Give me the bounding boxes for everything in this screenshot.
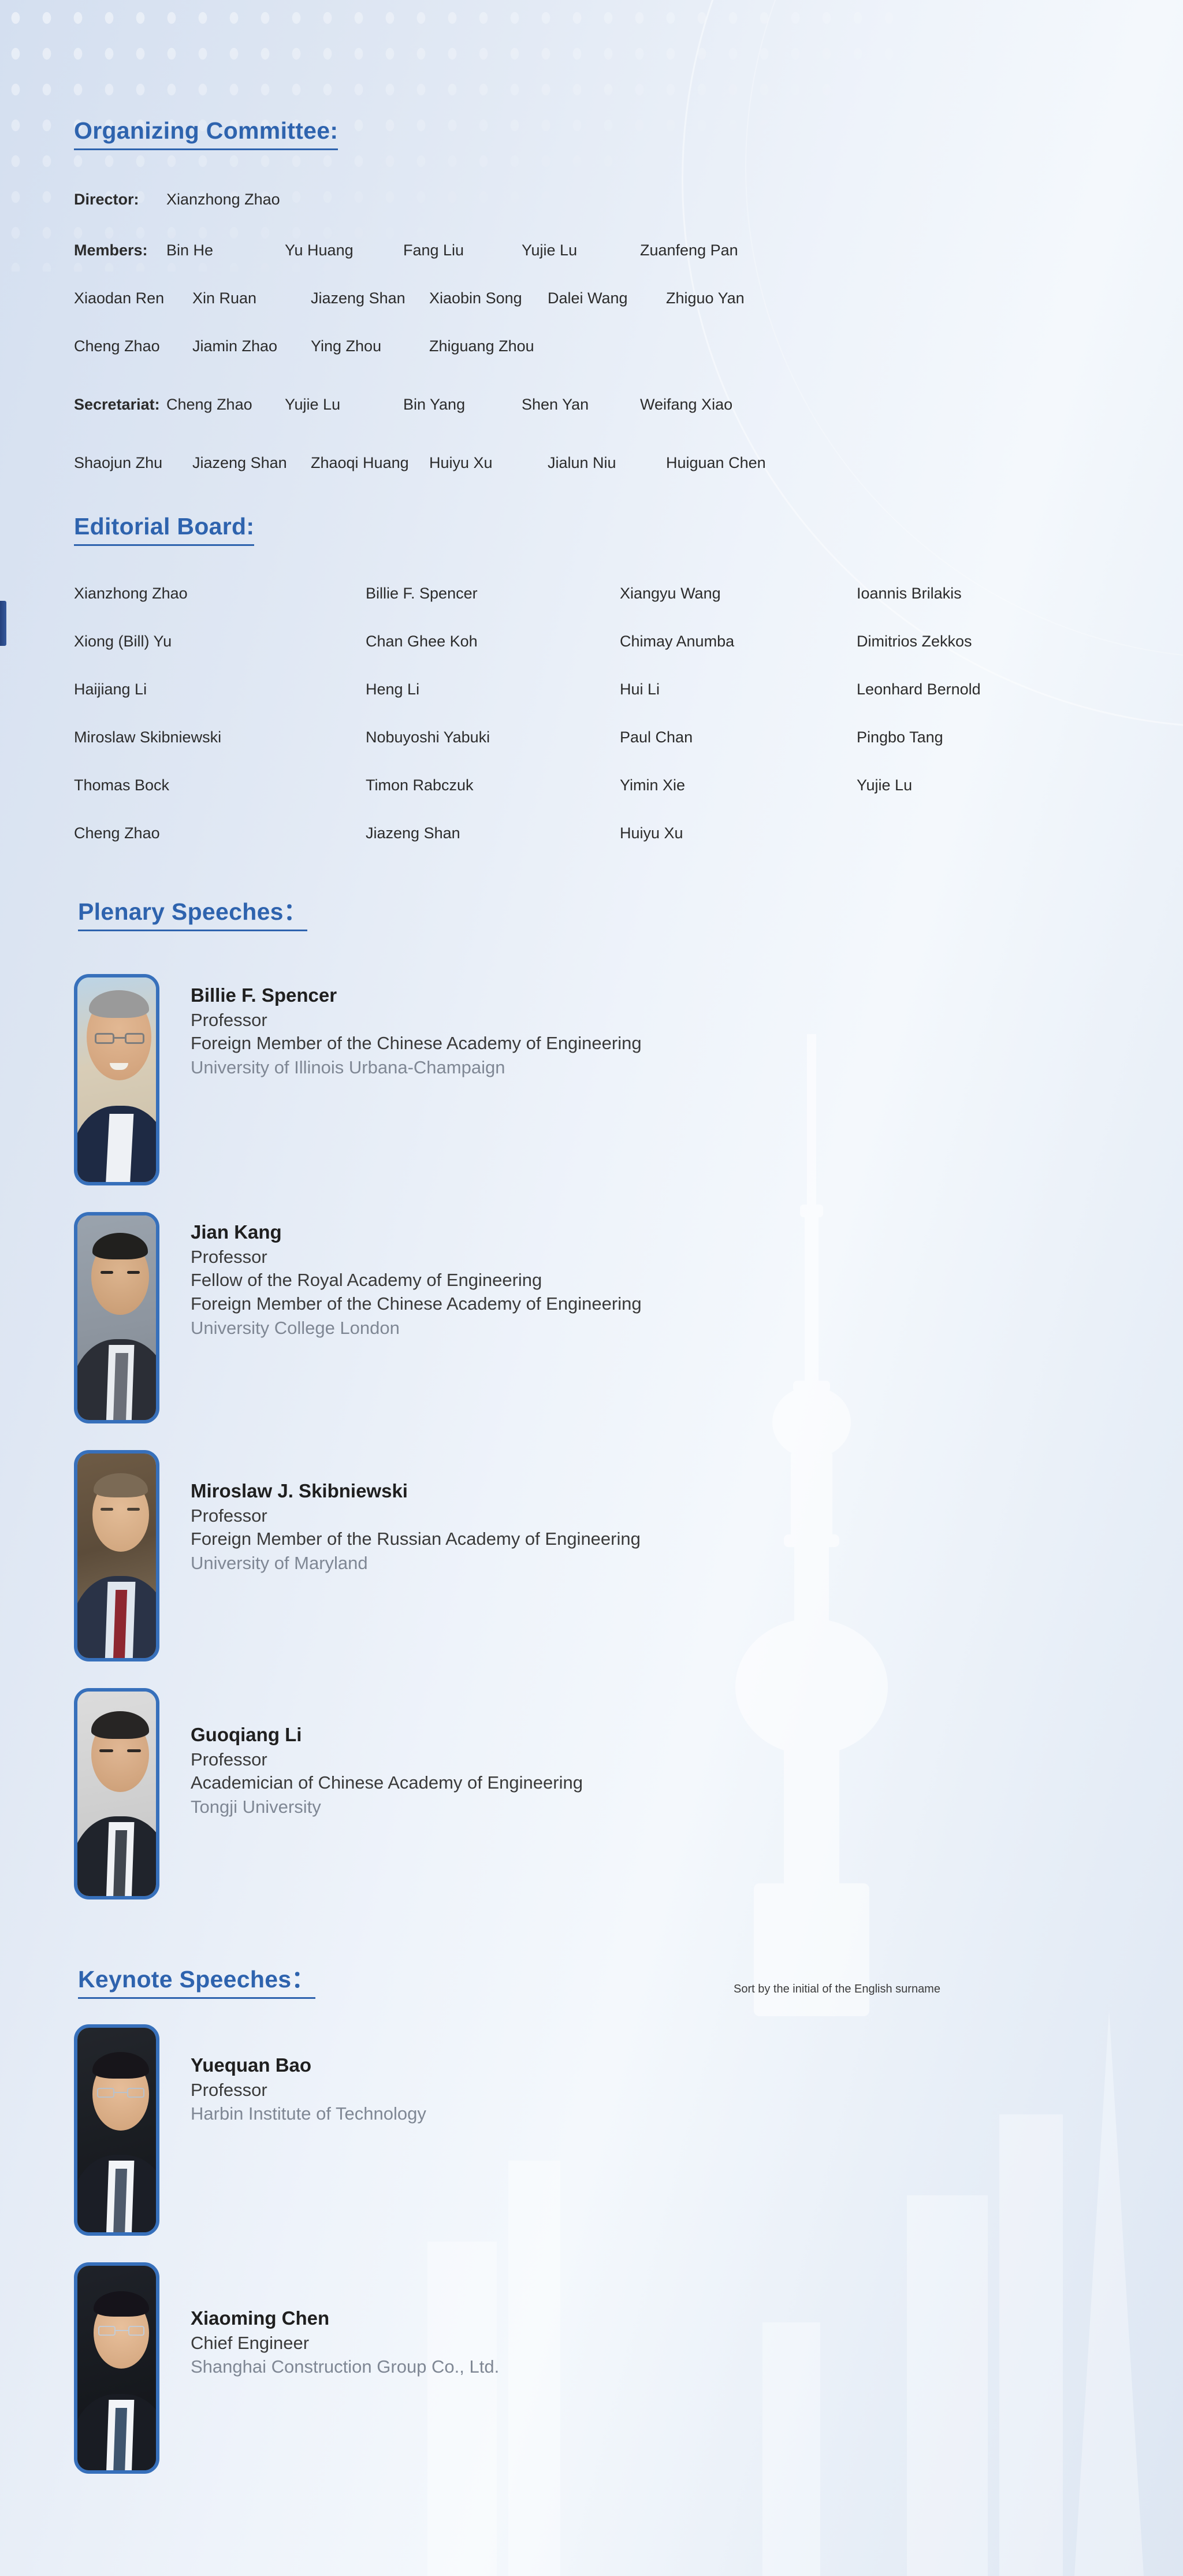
editorial-board-member: Leonhard Bernold: [857, 681, 1022, 698]
editorial-board-member: Heng Li: [366, 681, 620, 698]
plenary-speeches-heading: Plenary Speeches：: [78, 899, 307, 931]
secretariat-name: Zhaoqi Huang: [311, 454, 429, 472]
speaker-honor: Academician of Chinese Academy of Engine…: [191, 1771, 583, 1795]
speaker-info-miroslaw-j-skibniewski: Miroslaw J. Skibniewski Professor Foreig…: [191, 1478, 641, 1576]
member-name: Fang Liu: [403, 241, 522, 259]
member-name: Jiamin Zhao: [192, 337, 311, 355]
speaker-affiliation: Harbin Institute of Technology: [191, 2102, 426, 2127]
members-row-1: Members: Bin He Yu Huang Fang Liu Yujie …: [74, 241, 758, 259]
speaker-title: Chief Engineer: [191, 2332, 499, 2355]
speaker-honor: Fellow of the Royal Academy of Engineeri…: [191, 1269, 642, 1292]
speaker-info-guoqiang-li: Guoqiang Li Professor Academician of Chi…: [191, 1722, 583, 1820]
speaker-name: Billie F. Spencer: [191, 982, 642, 1009]
secretariat-name: Huiguan Chen: [666, 454, 784, 472]
editorial-board-member: Huiyu Xu: [620, 824, 857, 842]
speaker-affiliation: Shanghai Construction Group Co., Ltd.: [191, 2355, 499, 2380]
secretariat-row-2: Shaojun Zhu Jiazeng Shan Zhaoqi Huang Hu…: [74, 454, 784, 472]
secretariat-name: Yujie Lu: [285, 396, 403, 414]
speaker-affiliation: Tongji University: [191, 1795, 583, 1820]
portrait-yuequan-bao: [74, 2024, 159, 2236]
member-name: Jiazeng Shan: [311, 289, 429, 307]
secretariat-name: Huiyu Xu: [429, 454, 548, 472]
secretariat-name: Shen Yan: [522, 396, 640, 414]
member-name: Xin Ruan: [192, 289, 311, 307]
secretariat-name: Jialun Niu: [548, 454, 666, 472]
portrait-xiaoming-chen: [74, 2262, 159, 2474]
editorial-board-row: Miroslaw Skibniewski Nobuyoshi Yabuki Pa…: [74, 728, 1022, 746]
member-name: Yu Huang: [285, 241, 403, 259]
member-name: Yujie Lu: [522, 241, 640, 259]
editorial-board-member: Hui Li: [620, 681, 857, 698]
editorial-board-member: Chan Ghee Koh: [366, 633, 620, 650]
editorial-board-row: Xianzhong Zhao Billie F. Spencer Xiangyu…: [74, 585, 1022, 603]
editorial-board-member: Xiong (Bill) Yu: [74, 633, 366, 650]
secretariat-name: Weifang Xiao: [640, 396, 758, 414]
editorial-board-member: Pingbo Tang: [857, 728, 1022, 746]
speaker-name: Guoqiang Li: [191, 1722, 583, 1748]
secretariat-name: Bin Yang: [403, 396, 522, 414]
speaker-honor: Foreign Member of the Russian Academy of…: [191, 1527, 641, 1551]
editorial-board-row: Haijiang Li Heng Li Hui Li Leonhard Bern…: [74, 681, 1022, 698]
portrait-billie-f-spencer: [74, 974, 159, 1185]
members-label: Members:: [74, 241, 166, 259]
members-row-2: Xiaodan Ren Xin Ruan Jiazeng Shan Xiaobi…: [74, 289, 784, 307]
member-name: Xiaodan Ren: [74, 289, 192, 307]
editorial-board-member: Paul Chan: [620, 728, 857, 746]
member-name: Xiaobin Song: [429, 289, 548, 307]
member-name: Bin He: [166, 241, 285, 259]
secretariat-row-1: Secretariat: Cheng Zhao Yujie Lu Bin Yan…: [74, 396, 758, 414]
editorial-board-member: Jiazeng Shan: [366, 824, 620, 842]
secretariat-name: Cheng Zhao: [166, 396, 285, 414]
speaker-info-yuequan-bao: Yuequan Bao Professor Harbin Institute o…: [191, 2052, 426, 2127]
portrait-miroslaw-j-skibniewski: [74, 1450, 159, 1661]
speaker-honor: Foreign Member of the Chinese Academy of…: [191, 1032, 642, 1055]
speaker-name: Jian Kang: [191, 1219, 642, 1246]
speaker-name: Miroslaw J. Skibniewski: [191, 1478, 641, 1504]
keynote-speeches-heading: Keynote Speeches：: [78, 1967, 315, 1999]
secretariat-name: Shaojun Zhu: [74, 454, 192, 472]
speaker-title: Professor: [191, 1246, 642, 1269]
member-name: Ying Zhou: [311, 337, 429, 355]
director-name: Xianzhong Zhao: [166, 191, 280, 209]
member-name: Zhiguo Yan: [666, 289, 784, 307]
portrait-jian-kang: [74, 1212, 159, 1423]
editorial-board-member: Yimin Xie: [620, 776, 857, 794]
editorial-board-member: Dimitrios Zekkos: [857, 633, 1022, 650]
editorial-board-member: Thomas Bock: [74, 776, 366, 794]
speaker-affiliation: University College London: [191, 1316, 642, 1341]
keynote-sort-note: Sort by the initial of the English surna…: [734, 1983, 940, 1996]
editorial-board-member: Chimay Anumba: [620, 633, 857, 650]
editorial-board-member: Xianzhong Zhao: [74, 585, 366, 603]
organizing-committee-heading: Organizing Committee:: [74, 118, 338, 150]
member-name: Cheng Zhao: [74, 337, 192, 355]
director-row: Director: Xianzhong Zhao: [74, 191, 280, 209]
speaker-affiliation: University of Maryland: [191, 1551, 641, 1576]
editorial-board-member: Cheng Zhao: [74, 824, 366, 842]
member-name: Zhiguang Zhou: [429, 337, 548, 355]
speaker-title: Professor: [191, 2079, 426, 2102]
portrait-guoqiang-li: [74, 1688, 159, 1900]
editorial-board-member: Haijiang Li: [74, 681, 366, 698]
member-name: Zuanfeng Pan: [640, 241, 758, 259]
editorial-board-member: Miroslaw Skibniewski: [74, 728, 366, 746]
editorial-board-member: Yujie Lu: [857, 776, 1022, 794]
editorial-board-member: Timon Rabczuk: [366, 776, 620, 794]
editorial-board-member: Nobuyoshi Yabuki: [366, 728, 620, 746]
editorial-board-member: Billie F. Spencer: [366, 585, 620, 603]
speaker-honor: Foreign Member of the Chinese Academy of…: [191, 1292, 642, 1316]
speaker-info-jian-kang: Jian Kang Professor Fellow of the Royal …: [191, 1219, 642, 1341]
editorial-board-row: Cheng Zhao Jiazeng Shan Huiyu Xu: [74, 824, 857, 842]
speaker-title: Professor: [191, 1504, 641, 1528]
editorial-board-row: Xiong (Bill) Yu Chan Ghee Koh Chimay Anu…: [74, 633, 1022, 650]
speaker-title: Professor: [191, 1748, 583, 1772]
members-row-3: Cheng Zhao Jiamin Zhao Ying Zhou Zhiguan…: [74, 337, 548, 355]
speaker-title: Professor: [191, 1009, 642, 1032]
director-label: Director:: [74, 191, 166, 209]
editorial-board-member: Ioannis Brilakis: [857, 585, 1022, 603]
speaker-name: Xiaoming Chen: [191, 2305, 499, 2332]
member-name: Dalei Wang: [548, 289, 666, 307]
speaker-info-xiaoming-chen: Xiaoming Chen Chief Engineer Shanghai Co…: [191, 2305, 499, 2380]
secretariat-name: Jiazeng Shan: [192, 454, 311, 472]
speaker-info-billie-f-spencer: Billie F. Spencer Professor Foreign Memb…: [191, 982, 642, 1080]
editorial-board-member: Xiangyu Wang: [620, 585, 857, 603]
editorial-board-row: Thomas Bock Timon Rabczuk Yimin Xie Yuji…: [74, 776, 1022, 794]
speaker-affiliation: University of Illinois Urbana-Champaign: [191, 1055, 642, 1080]
editorial-board-heading: Editorial Board:: [74, 514, 254, 546]
speaker-name: Yuequan Bao: [191, 2052, 426, 2079]
secretariat-label: Secretariat:: [74, 396, 166, 414]
